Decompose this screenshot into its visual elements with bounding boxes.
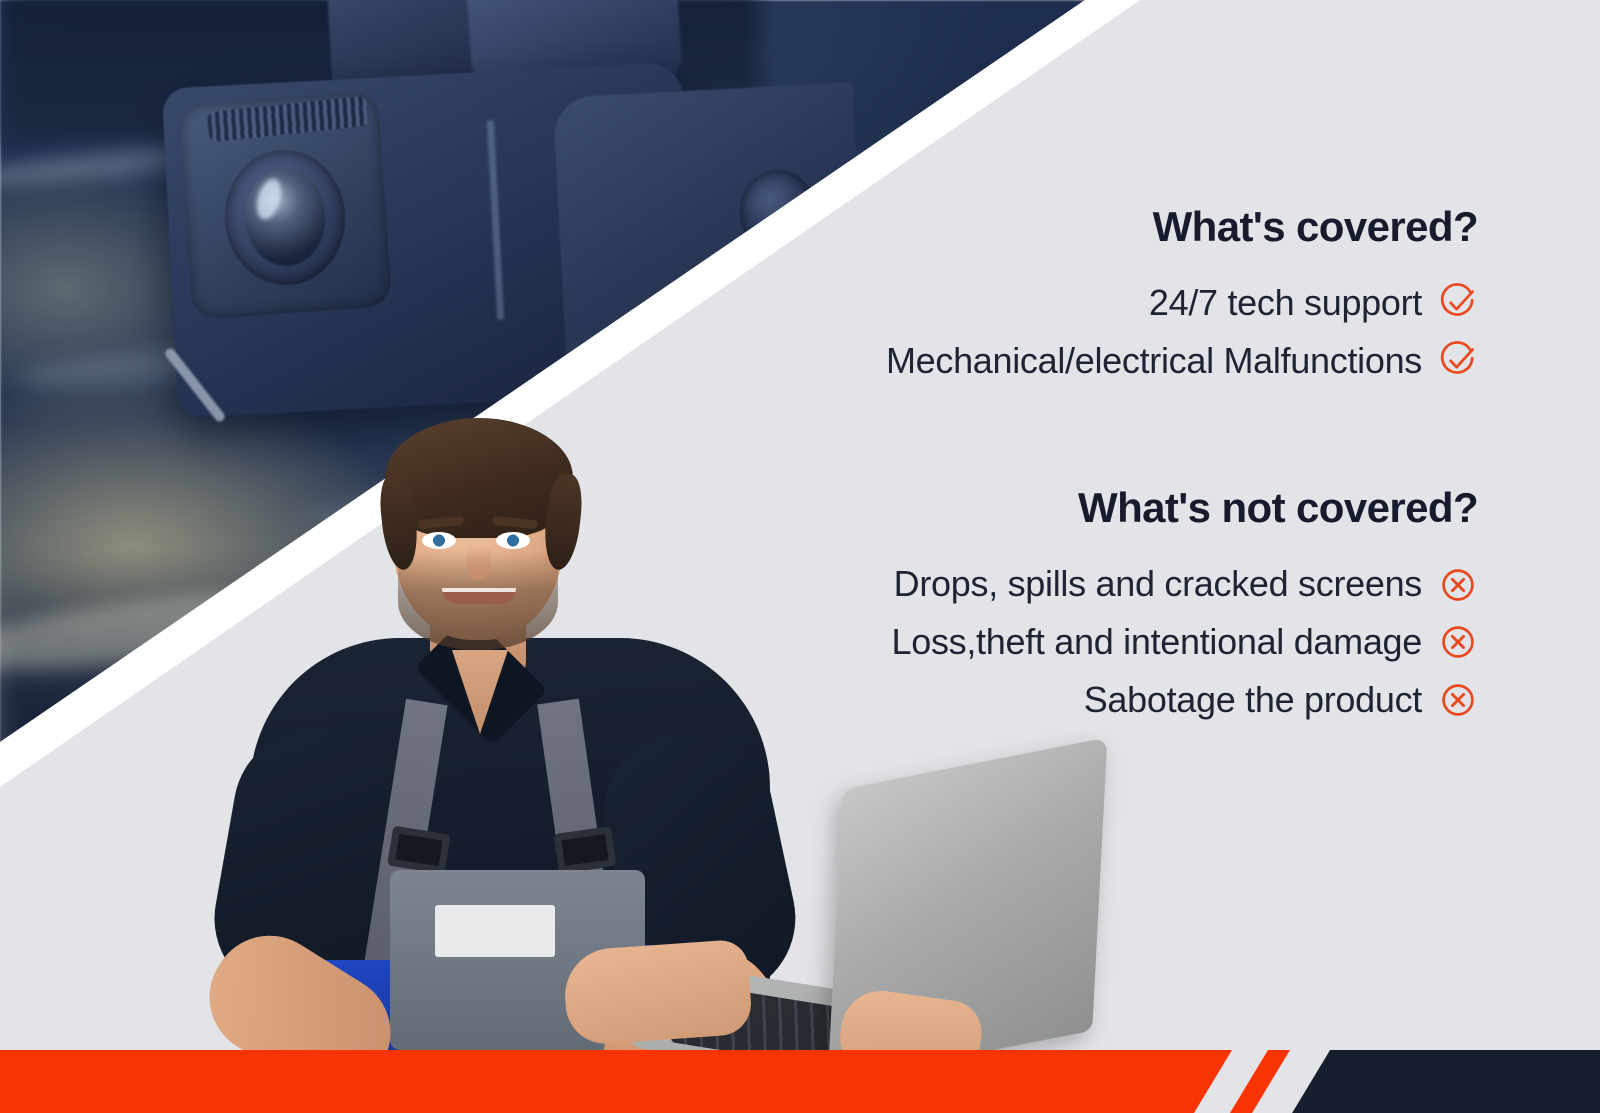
- nose: [467, 546, 491, 580]
- check-circle-icon: [1438, 283, 1478, 323]
- eye: [496, 532, 530, 549]
- not-covered-item: Loss,theft and intentional damage: [960, 618, 1478, 667]
- not-covered-item-label: Loss,theft and intentional damage: [892, 618, 1423, 667]
- not-covered-section: What's not covered? Drops, spills and cr…: [960, 486, 1478, 733]
- bib-pocket: [435, 905, 555, 957]
- covered-heading: What's covered?: [960, 205, 1478, 249]
- not-covered-heading: What's not covered?: [960, 486, 1478, 530]
- bottom-bar-orange-segment: [0, 1050, 1290, 1113]
- covered-section: What's covered? 24/7 tech support Mechan…: [960, 205, 1478, 394]
- typing-hand: [562, 939, 753, 1047]
- not-covered-item-label: Drops, spills and cracked screens: [894, 560, 1422, 609]
- covered-item-label: 24/7 tech support: [1149, 279, 1422, 328]
- smiling-mouth: [442, 588, 516, 604]
- technician-photo: [230, 400, 890, 1060]
- covered-item: Mechanical/electrical Malfunctions: [960, 337, 1478, 386]
- dashcam-led-strip: [692, 309, 724, 391]
- coverage-panel: What's covered? 24/7 tech support Mechan…: [960, 0, 1600, 1050]
- x-circle-icon: [1438, 565, 1478, 605]
- covered-item: 24/7 tech support: [960, 279, 1478, 328]
- not-covered-item: Drops, spills and cracked screens: [960, 560, 1478, 609]
- bottom-bar: [0, 1050, 1600, 1113]
- strap-buckle: [553, 826, 616, 874]
- banner-canvas: What's covered? 24/7 tech support Mechan…: [0, 0, 1600, 1113]
- check-circle-icon: [1438, 341, 1478, 381]
- not-covered-item-label: Sabotage the product: [1084, 676, 1422, 725]
- x-circle-icon: [1438, 622, 1478, 662]
- not-covered-item: Sabotage the product: [960, 676, 1478, 725]
- x-circle-icon: [1438, 680, 1478, 720]
- eye: [422, 532, 456, 549]
- covered-item-label: Mechanical/electrical Malfunctions: [886, 337, 1422, 386]
